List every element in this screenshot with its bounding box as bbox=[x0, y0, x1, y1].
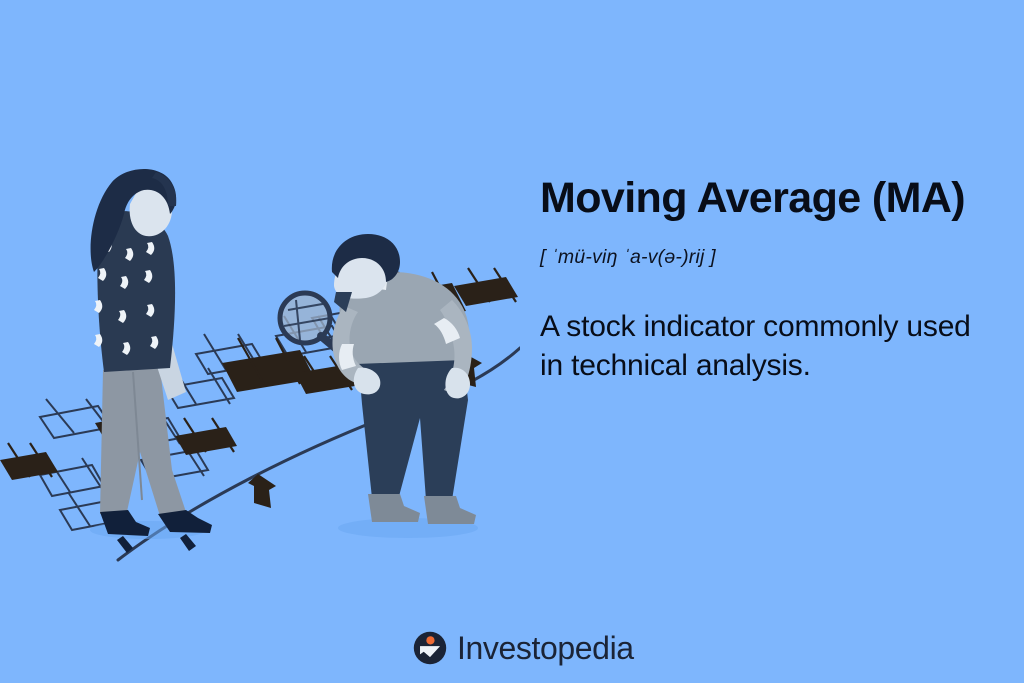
up-arrow-left bbox=[248, 474, 276, 508]
definition-text: A stock indicator commonly used in techn… bbox=[540, 269, 992, 387]
definition-card: Moving Average (MA) [ ˈmü-viŋ ˈa-v(ə-)ri… bbox=[0, 0, 1024, 683]
illustration bbox=[0, 0, 520, 620]
definition-text-block: Moving Average (MA) [ ˈmü-viŋ ˈa-v(ə-)ri… bbox=[540, 176, 992, 386]
pronunciation: [ ˈmü-viŋ ˈa-v(ə-)rij ] bbox=[540, 222, 992, 269]
illustration-svg bbox=[0, 0, 520, 620]
investopedia-logo: Investopedia bbox=[412, 630, 634, 666]
investopedia-logo-icon bbox=[412, 630, 448, 666]
investopedia-wordmark: Investopedia bbox=[457, 632, 634, 664]
woman-figure bbox=[90, 169, 212, 553]
page-title: Moving Average (MA) bbox=[540, 176, 992, 222]
